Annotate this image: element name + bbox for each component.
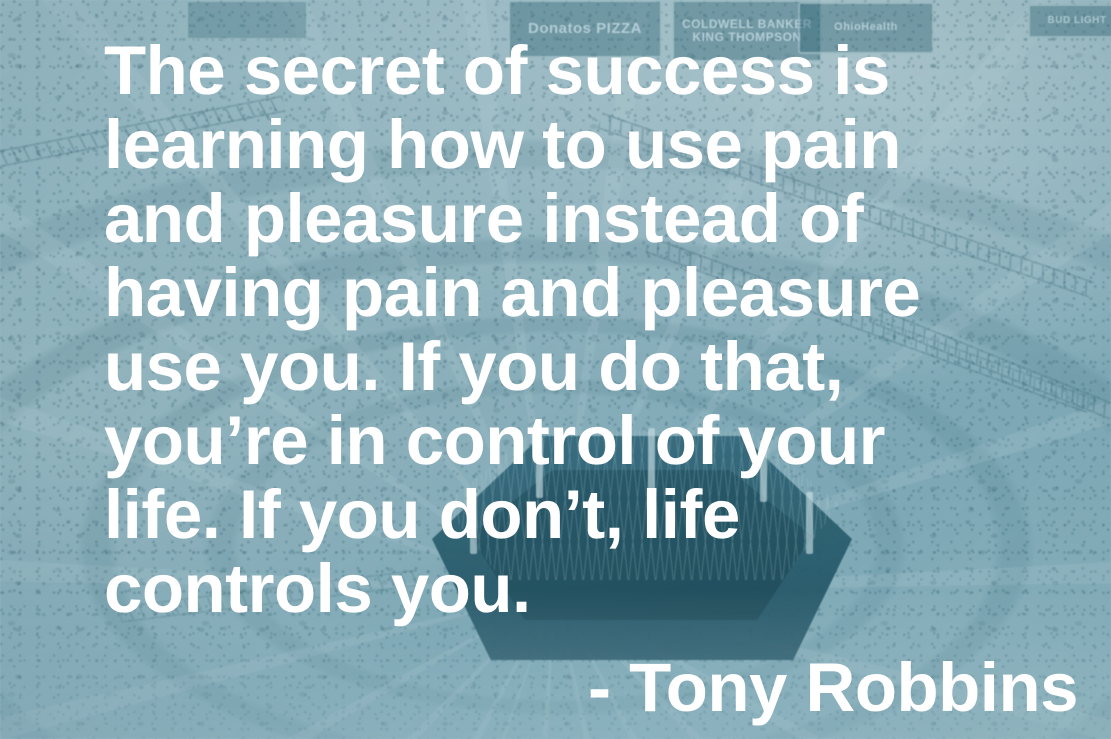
quote-line: and pleasure instead of [104, 182, 1090, 256]
quote-line: learning how to use pain [104, 108, 1090, 182]
quote-text-block: The secret of success is learning how to… [104, 34, 1090, 626]
quote-line: having pain and pleasure [104, 256, 1090, 330]
quote-line: you’re in control of your [104, 404, 1090, 478]
quote-poster: Donatos PIZZA COLDWELL BANKER KING THOMP… [0, 0, 1111, 739]
quote-attribution: - Tony Robbins [588, 651, 1078, 725]
quote-line: life. If you don’t, life [104, 478, 1090, 552]
quote-line: controls you. [104, 552, 1090, 626]
quote-line: The secret of success is [104, 34, 1090, 108]
quote-line: use you. If you do that, [104, 330, 1090, 404]
sponsor-banner-bud-light: BUD LIGHT [1028, 4, 1111, 38]
